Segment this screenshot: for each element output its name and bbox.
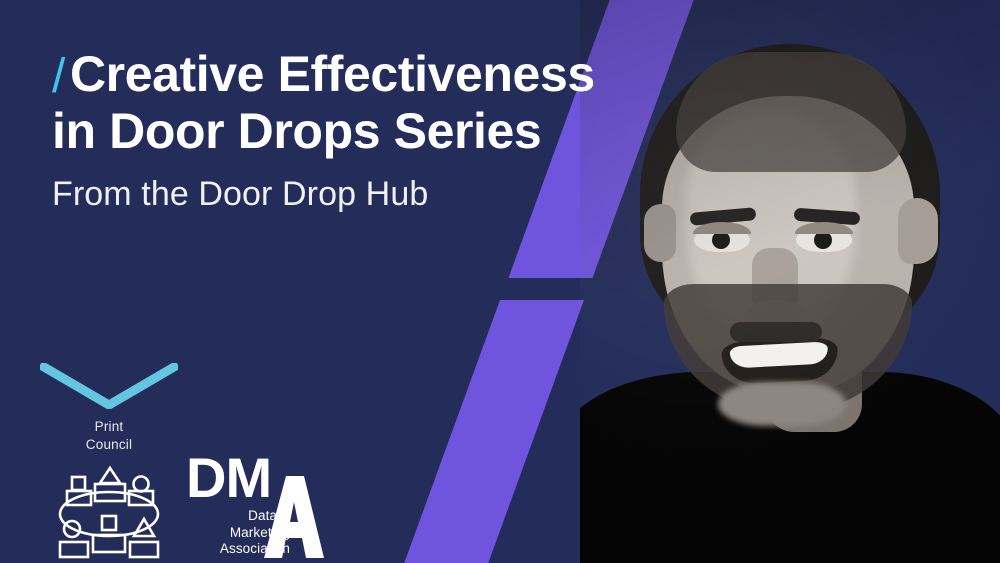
dma-tagline-line-3: Association	[162, 541, 290, 558]
subtitle: From the Door Drop Hub	[52, 175, 692, 214]
promo-slide: /Creative Effectiveness in Door Drops Se…	[0, 0, 1000, 563]
dma-tagline-line-2: Marketing	[162, 525, 290, 542]
headline-line-1: /Creative Effectiveness	[52, 48, 692, 101]
headline-line-1-text: Creative Effectiveness	[70, 46, 595, 102]
slash-accent-icon: /	[52, 52, 70, 102]
dma-logo: DM Data & Marketing Association	[186, 450, 314, 558]
dma-tagline: Data & Marketing Association	[162, 508, 290, 559]
purple-slash-lower	[394, 300, 584, 563]
headline-line-2: in Door Drops Series	[52, 105, 692, 157]
headline-block: /Creative Effectiveness in Door Drops Se…	[52, 48, 692, 214]
print-council-word-1: Print	[86, 418, 132, 436]
print-council-wordmark: Print Council	[86, 418, 132, 454]
roundtable-meeting-icon	[50, 460, 168, 562]
chevron-down-icon	[40, 363, 178, 409]
dma-tagline-line-1: Data &	[162, 508, 290, 525]
print-council-logo: Print Council	[38, 363, 180, 562]
dma-monogram: DM	[186, 450, 271, 506]
print-council-word-2: Council	[86, 436, 132, 454]
logo-lockup: Print Council	[38, 363, 314, 562]
